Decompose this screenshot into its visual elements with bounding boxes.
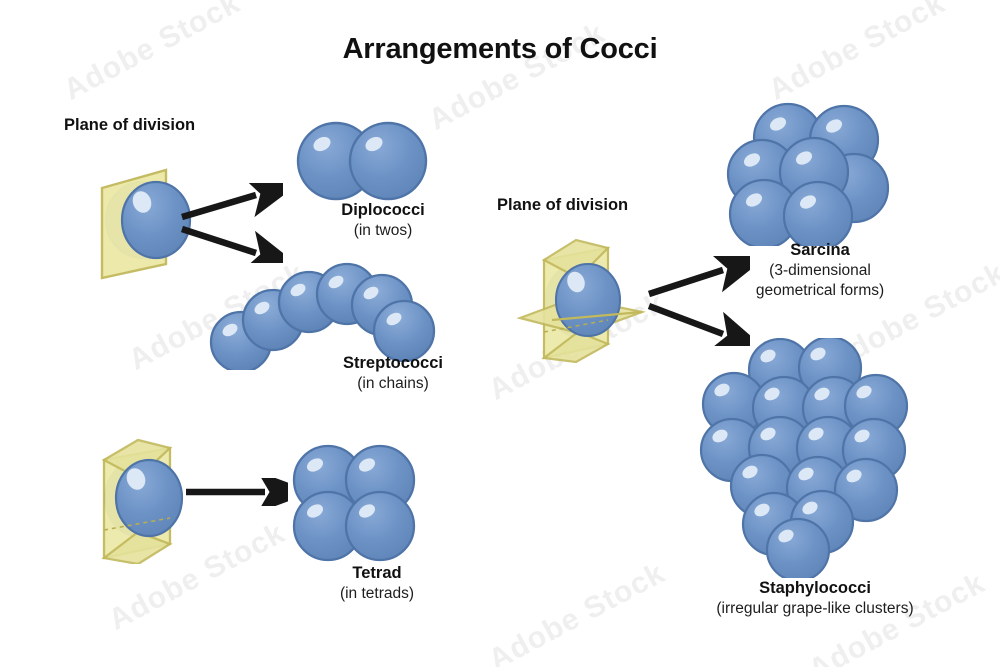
coccus-cell-icon	[350, 123, 426, 199]
sarcina-caption: Sarcina (3-dimensional geometrical forms…	[715, 240, 925, 301]
tetrad-name: Tetrad	[282, 563, 472, 584]
division-plane-triple-figure	[516, 236, 646, 364]
tetrad-figure	[286, 438, 418, 564]
diagram-canvas: Adobe Stock Adobe Stock Adobe Stock Adob…	[0, 0, 1000, 667]
watermark-ghost: Adobe Stock	[483, 556, 671, 667]
diplococci-figure	[292, 118, 432, 203]
sarcina-name: Sarcina	[715, 240, 925, 261]
coccus-cell-icon	[556, 264, 620, 336]
sarcina-sub2: geometrical forms)	[715, 281, 925, 301]
diplococci-name: Diplococci	[288, 200, 478, 221]
diplococci-caption: Diplococci (in twos)	[288, 200, 478, 241]
diplococci-sub: (in twos)	[288, 221, 478, 241]
arrow-icon	[183, 478, 288, 506]
sarcina-cube-cluster	[728, 104, 888, 246]
staphylococci-figure	[688, 338, 916, 578]
sarcina-figure	[722, 98, 890, 246]
streptococci-caption: Streptococci (in chains)	[288, 353, 498, 394]
staphylococci-sub: (irregular grape-like clusters)	[670, 599, 960, 619]
sarcina-sub: (3-dimensional	[715, 261, 925, 281]
tetrad-sub: (in tetrads)	[282, 584, 472, 604]
staphylococci-name: Staphylococci	[670, 578, 960, 599]
streptococci-sub: (in chains)	[288, 374, 498, 394]
arrow-icon	[178, 183, 283, 263]
staphylococci-grape-cluster	[701, 338, 907, 578]
coccus-cell-icon	[767, 519, 829, 578]
tetrad-caption: Tetrad (in tetrads)	[282, 563, 472, 604]
page-title: Arrangements of Cocci	[0, 33, 1000, 66]
streptococci-name: Streptococci	[288, 353, 498, 374]
coccus-cell-icon	[346, 492, 414, 560]
coccus-cell-icon	[374, 301, 434, 361]
plane-of-division-label-right: Plane of division	[497, 196, 628, 215]
coccus-cell-icon	[784, 182, 852, 246]
staphylococci-caption: Staphylococci (irregular grape-like clus…	[670, 578, 960, 619]
plane-of-division-label-left: Plane of division	[64, 116, 195, 135]
coccus-cell-icon	[116, 460, 182, 536]
